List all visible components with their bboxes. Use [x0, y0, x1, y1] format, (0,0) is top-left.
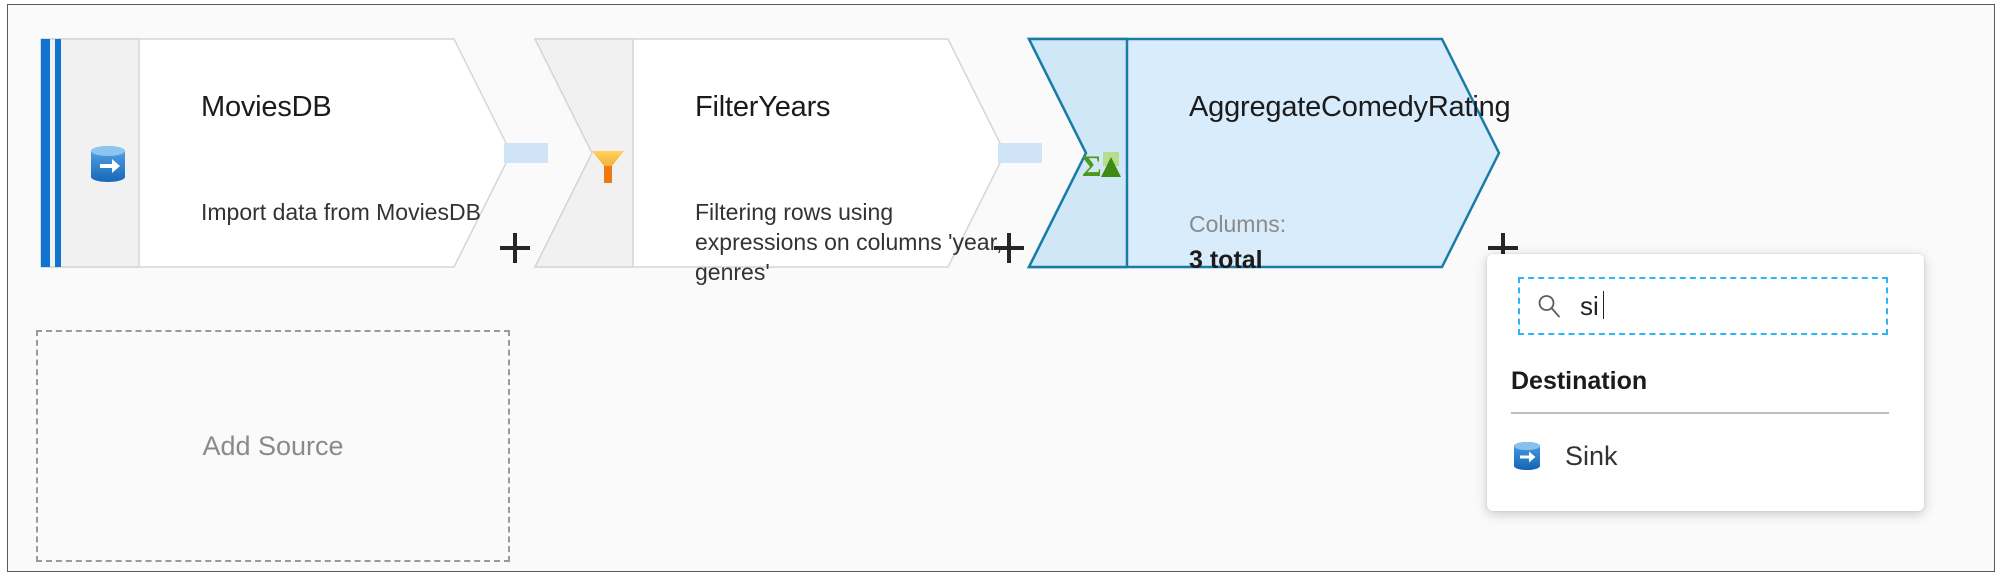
- add-source-placeholder[interactable]: Add Source: [36, 330, 510, 562]
- add-node-dropdown[interactable]: si Destination Sink: [1487, 254, 1924, 511]
- node-filteryears[interactable]: FilterYears Filtering rows using express…: [535, 39, 1005, 267]
- data-flow-canvas[interactable]: MoviesDB Import data from MoviesDB: [7, 4, 1995, 572]
- search-icon: [1536, 293, 1562, 319]
- dropdown-item-label: Sink: [1565, 441, 1618, 472]
- search-input-value: si: [1580, 291, 1599, 322]
- connector-filter-to-aggregate: [998, 143, 1042, 163]
- node-moviesdb[interactable]: MoviesDB Import data from MoviesDB: [41, 39, 511, 267]
- add-source-label: Add Source: [202, 431, 343, 462]
- search-input[interactable]: si: [1518, 277, 1888, 335]
- filter-funnel-icon: [587, 143, 629, 185]
- svg-text:Σ: Σ: [1082, 150, 1102, 183]
- aggregate-sigma-icon: Σ: [1081, 143, 1123, 185]
- connector-source-to-filter: [504, 143, 548, 163]
- dropdown-divider: [1511, 412, 1889, 414]
- dropdown-item-sink[interactable]: Sink: [1511, 434, 1618, 478]
- add-after-filteryears-button[interactable]: [994, 233, 1024, 263]
- sink-icon: [1511, 440, 1543, 472]
- source-accent-bars: [41, 39, 63, 267]
- node-aggregatecomedyrating[interactable]: Σ AggregateComedyRating Columns: 3 total: [1029, 39, 1499, 267]
- source-database-icon: [87, 143, 129, 185]
- add-after-moviesdb-button[interactable]: [500, 233, 530, 263]
- dropdown-section-title: Destination: [1511, 367, 1647, 396]
